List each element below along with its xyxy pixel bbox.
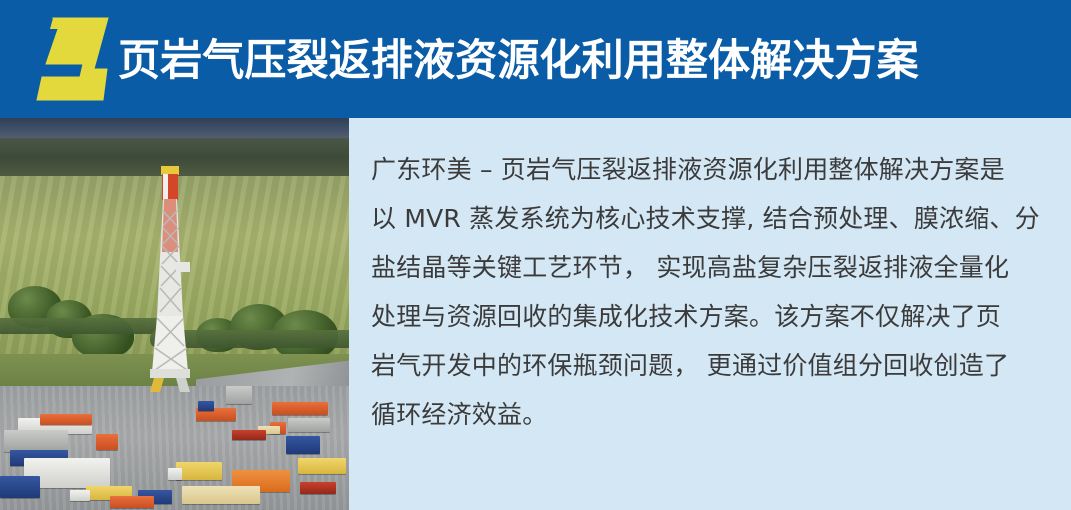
photo-equipment [286,436,320,454]
photo-drilling-derrick [148,166,192,396]
photo-equipment [96,434,118,450]
photo-equipment [182,486,260,504]
photo-hedgerow [0,318,165,334]
photo-equipment [0,476,40,498]
description-line: 广东环美 – 页岩气压裂返排液资源化利用整体解决方案是 [371,145,1047,194]
photo-equipment [40,414,92,425]
description-panel: 广东环美 – 页岩气压裂返排液资源化利用整体解决方案是 以 MVR 蒸发系统为核… [349,118,1071,510]
photo-equipment [70,490,90,501]
banner-content: 页岩气压裂返排液资源化利用整体解决方案 [34,0,935,118]
section-number-badge [34,17,112,101]
description-line: 盐结晶等关键工艺环节， 实现高盐复杂压裂返排液全量化 [371,243,1047,292]
photo-equipment [226,386,252,404]
solution-section-card: 页岩气压裂返排液资源化利用整体解决方案 [0,0,1071,510]
page-title: 页岩气压裂返排液资源化利用整体解决方案 [118,40,919,83]
description-line: 以 MVR 蒸发系统为核心技术支撑, 结合预处理、膜浓缩、分 [371,194,1047,243]
drilling-rig-photo [0,118,349,510]
photo-equipment [288,418,330,432]
photo-equipment [300,482,336,494]
photo-equipment [272,402,328,415]
description-line: 处理与资源回收的集成化技术方案。该方案不仅解决了页 [371,292,1047,341]
photo-equipment [168,468,182,480]
description-line: 岩气开发中的环保瓶颈问题， 更通过价值组分回收创造了 [371,341,1047,390]
photo-equipment [298,458,346,474]
photo-equipment [176,462,222,480]
photo-equipment [110,496,154,508]
section-header-banner: 页岩气压裂返排液资源化利用整体解决方案 [0,0,1071,118]
photo-equipment [232,430,266,440]
photo-equipment [198,401,214,411]
description-text: 广东环美 – 页岩气压裂返排液资源化利用整体解决方案是 以 MVR 蒸发系统为核… [371,145,1047,439]
description-line: 循环经济效益。 [371,390,1047,439]
photo-equipment [4,430,68,452]
